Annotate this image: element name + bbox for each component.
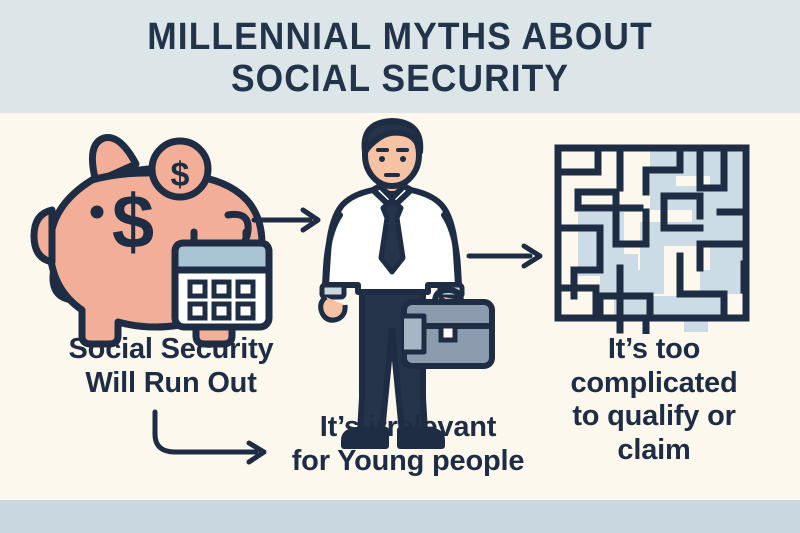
dollar-coin-icon: $ <box>152 141 208 197</box>
caption-line: It’s irrelevant <box>258 411 558 445</box>
caption-myth-run-out: Social Security Will Run Out <box>28 333 314 400</box>
maze-icon <box>558 148 746 334</box>
caption-line: for Young people <box>258 445 558 479</box>
caption-myth-complicated: It’s too complicated to qualify or claim <box>545 333 763 468</box>
caption-line: claim <box>545 434 763 468</box>
arrow-man-to-maze <box>469 246 540 266</box>
caption-line: Social Security <box>28 333 314 367</box>
caption-line: to qualify or <box>545 400 763 434</box>
piggy-dollar-symbol: $ <box>112 180 154 265</box>
caption-line: Will Run Out <box>28 367 314 401</box>
arrow-caption-left-to-caption-mid <box>155 412 264 462</box>
infographic-canvas: MILLENNIAL MYTHS ABOUT SOCIAL SECURITY $ <box>0 0 800 533</box>
caption-line: complicated <box>545 367 763 401</box>
businessman-icon <box>321 121 465 446</box>
briefcase-icon <box>404 290 492 366</box>
caption-myth-irrelevant: It’s irrelevant for Young people <box>258 411 558 478</box>
svg-text:$: $ <box>171 156 190 194</box>
calendar-icon <box>175 232 269 327</box>
caption-line: It’s too <box>545 333 763 367</box>
